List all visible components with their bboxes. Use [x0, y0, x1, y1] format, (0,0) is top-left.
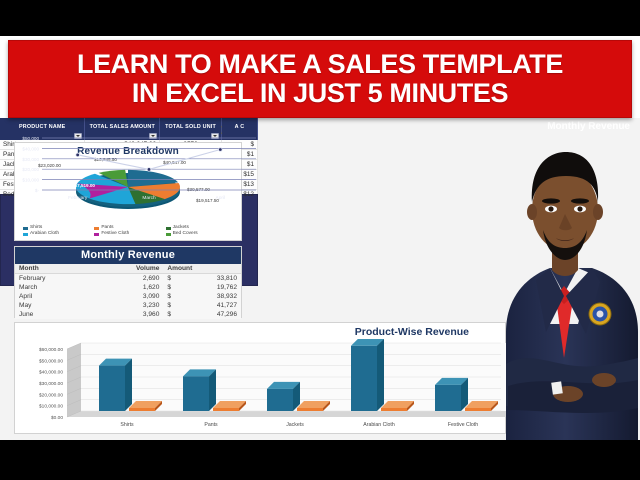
legend-swatch-icon [23, 227, 28, 230]
bar-secondary [129, 408, 155, 411]
bar-x-tick-labels: ShirtsPantsJacketsArabian ClothFestive C… [120, 422, 478, 428]
banner-line-2: IN EXCEL IN JUST 5 MINUTES [132, 79, 508, 108]
bar-primary [267, 389, 293, 411]
line-x-tick-labels: FebruaryMarchApril [68, 195, 225, 201]
bar-primary [435, 385, 461, 411]
col-label: TOTAL SALES AMOUNT [90, 124, 155, 130]
y-tick-label: $50,000 [22, 136, 39, 141]
y-tick-label: $50,000.00 [39, 358, 63, 364]
monthly-revenue-grid: Month Volume Amount February2,690$33,810… [15, 264, 241, 319]
table-row[interactable]: April3,090$38,932 [15, 292, 241, 301]
monthly-revenue-table[interactable]: Monthly Revenue Month Volume Amount Febr… [14, 246, 242, 318]
cell-month: April [15, 292, 93, 301]
legend-item-festive-cloth[interactable]: Festive Cloth [94, 232, 165, 237]
col-amount: Amount [163, 264, 241, 274]
y-tick-label: $30,000 [22, 157, 39, 162]
cell-volume: 3,960 [93, 310, 164, 319]
table-row[interactable]: March1,620$19,762 [15, 283, 241, 292]
col-volume: Volume [93, 264, 164, 274]
cell-month: June [15, 310, 93, 319]
legend-swatch-icon [166, 227, 171, 230]
legend-item-bed-covers[interactable]: Bed Covers [166, 232, 237, 237]
bar-y-tick-labels: $60,000.00$50,000.00$40,000.00$30,000.00… [39, 347, 63, 421]
legend-swatch-icon [94, 233, 99, 236]
legend-label: Bed Covers [173, 232, 198, 237]
product-wise-revenue-chart[interactable]: Product-Wise Revenue $60,000.00$50,000.0… [14, 322, 506, 434]
x-tick-label: April [216, 195, 226, 201]
cell-month: March [15, 283, 93, 292]
x-tick-label: March [142, 195, 156, 201]
line-series [78, 150, 221, 170]
legend-swatch-icon [23, 233, 28, 236]
y-tick-label: $40,000 [22, 146, 39, 151]
y-tick-label: $30,000.00 [39, 381, 63, 387]
bar-chart-svg: $60,000.00$50,000.00$40,000.00$30,000.00… [15, 339, 507, 433]
presenter-photo [488, 118, 640, 440]
line-gridlines [42, 138, 256, 190]
y-tick-label: $20,000 [22, 167, 39, 172]
x-tick-label: Jackets [286, 422, 304, 428]
banner-line-1: LEARN TO MAKE A SALES TEMPLATE [77, 50, 563, 79]
y-tick-label: $- [35, 188, 40, 193]
col-month: Month [15, 264, 93, 274]
bar-secondary [381, 408, 407, 411]
cell-amount: 47,296 [177, 310, 241, 319]
title-banner: LEARN TO MAKE A SALES TEMPLATE IN EXCEL … [8, 40, 632, 118]
bar-secondary [213, 408, 239, 411]
x-tick-label: Pants [204, 422, 218, 428]
pie-legend: Shirts Pants Jackets Arabian Cloth [23, 226, 237, 238]
y-tick-label: $40,000.00 [39, 370, 63, 376]
cell-volume: 3,090 [93, 292, 164, 301]
cell-volume: 3,230 [93, 301, 164, 310]
legend-label: Arabian Cloth [30, 232, 59, 237]
line-y-tick-labels: $50,000$40,000$30,000$20,000$10,000$- [22, 136, 39, 193]
y-tick-label: $10,000.00 [39, 404, 63, 410]
line-chart-svg: $50,000$40,000$30,000$20,000$10,000$- Fe… [0, 132, 258, 210]
table-row[interactable]: February2,690$33,810 [15, 274, 241, 284]
legend-swatch-icon [166, 233, 171, 236]
bar-primary [99, 366, 125, 411]
data-point [147, 168, 151, 172]
bar-primary [183, 376, 209, 411]
cell-currency: $ [163, 301, 177, 310]
col-label: A C [235, 124, 245, 130]
cell-currency: $ [163, 292, 177, 301]
y-tick-label: $60,000.00 [39, 347, 63, 353]
col-label: PRODUCT NAME [19, 124, 65, 130]
bar-secondary [297, 408, 323, 411]
table-header-row: Month Volume Amount [15, 264, 241, 274]
cell-amount: 19,762 [177, 283, 241, 292]
cell-volume: 1,620 [93, 283, 164, 292]
x-tick-label: Shirts [120, 422, 134, 428]
data-point [219, 148, 223, 152]
video-content-area: LEARN TO MAKE A SALES TEMPLATE IN EXCEL … [0, 36, 640, 440]
cell-month: May [15, 301, 93, 310]
y-tick-label: $20,000.00 [39, 392, 63, 398]
legend-label: Festive Cloth [101, 232, 129, 237]
x-tick-label: February [68, 195, 88, 201]
cell-month: February [15, 274, 93, 284]
table-row[interactable]: June3,960$47,296 [15, 310, 241, 319]
x-tick-label: Festive Cloth [448, 422, 478, 428]
monthly-revenue-title: Monthly Revenue [15, 247, 241, 264]
col-label: TOTAL SOLD UNIT [165, 124, 216, 130]
cell-currency: $ [163, 274, 177, 284]
cell-currency: $ [163, 310, 177, 319]
cell-currency: $ [163, 283, 177, 292]
y-tick-label: $0.00 [51, 415, 63, 421]
cell-volume: 2,690 [93, 274, 164, 284]
x-tick-label: Arabian Cloth [363, 422, 395, 428]
cell-amount: 41,727 [177, 301, 241, 310]
cell-amount: 33,810 [177, 274, 241, 284]
video-frame: LEARN TO MAKE A SALES TEMPLATE IN EXCEL … [0, 0, 640, 480]
cell-amount: 38,932 [177, 292, 241, 301]
data-point [76, 153, 80, 157]
table-row[interactable]: May3,230$41,727 [15, 301, 241, 310]
y-tick-label: $10,000 [22, 178, 39, 183]
bar-primary [351, 346, 377, 411]
legend-item-arabian-cloth[interactable]: Arabian Cloth [23, 232, 94, 237]
legend-swatch-icon [94, 227, 99, 230]
bar-chart-title: Product-Wise Revenue [355, 326, 469, 338]
